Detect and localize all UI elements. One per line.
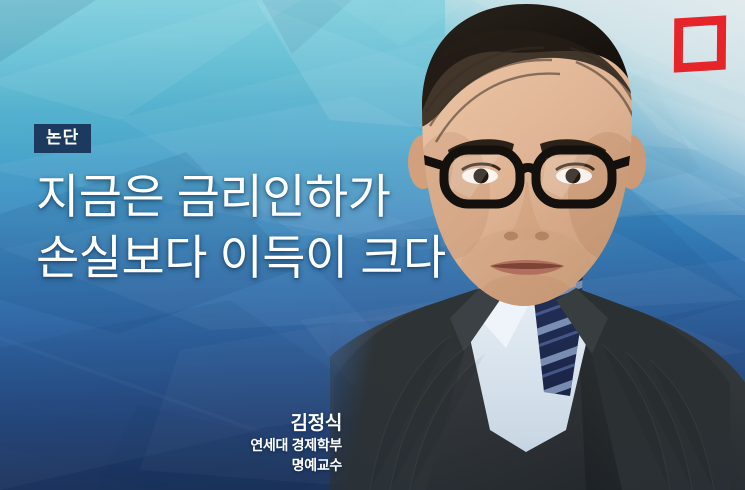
headline: 지금은 금리인하가 손실보다 이득이 크다	[36, 166, 506, 288]
red-square-logo[interactable]	[674, 15, 726, 72]
article-hero-card: 논단 지금은 금리인하가 손실보다 이득이 크다 김정식 연세대 경제학부 명예…	[0, 0, 745, 490]
logo-square-icon	[674, 15, 726, 72]
headline-line-1: 지금은 금리인하가	[36, 166, 506, 227]
byline-title: 명예교수	[120, 456, 342, 476]
byline-organization: 연세대 경제학부	[120, 436, 342, 456]
headline-line-2: 손실보다 이득이 크다	[36, 227, 506, 288]
byline-name: 김정식	[120, 412, 342, 436]
byline: 김정식 연세대 경제학부 명예교수	[120, 412, 342, 476]
category-badge[interactable]: 논단	[34, 124, 91, 153]
